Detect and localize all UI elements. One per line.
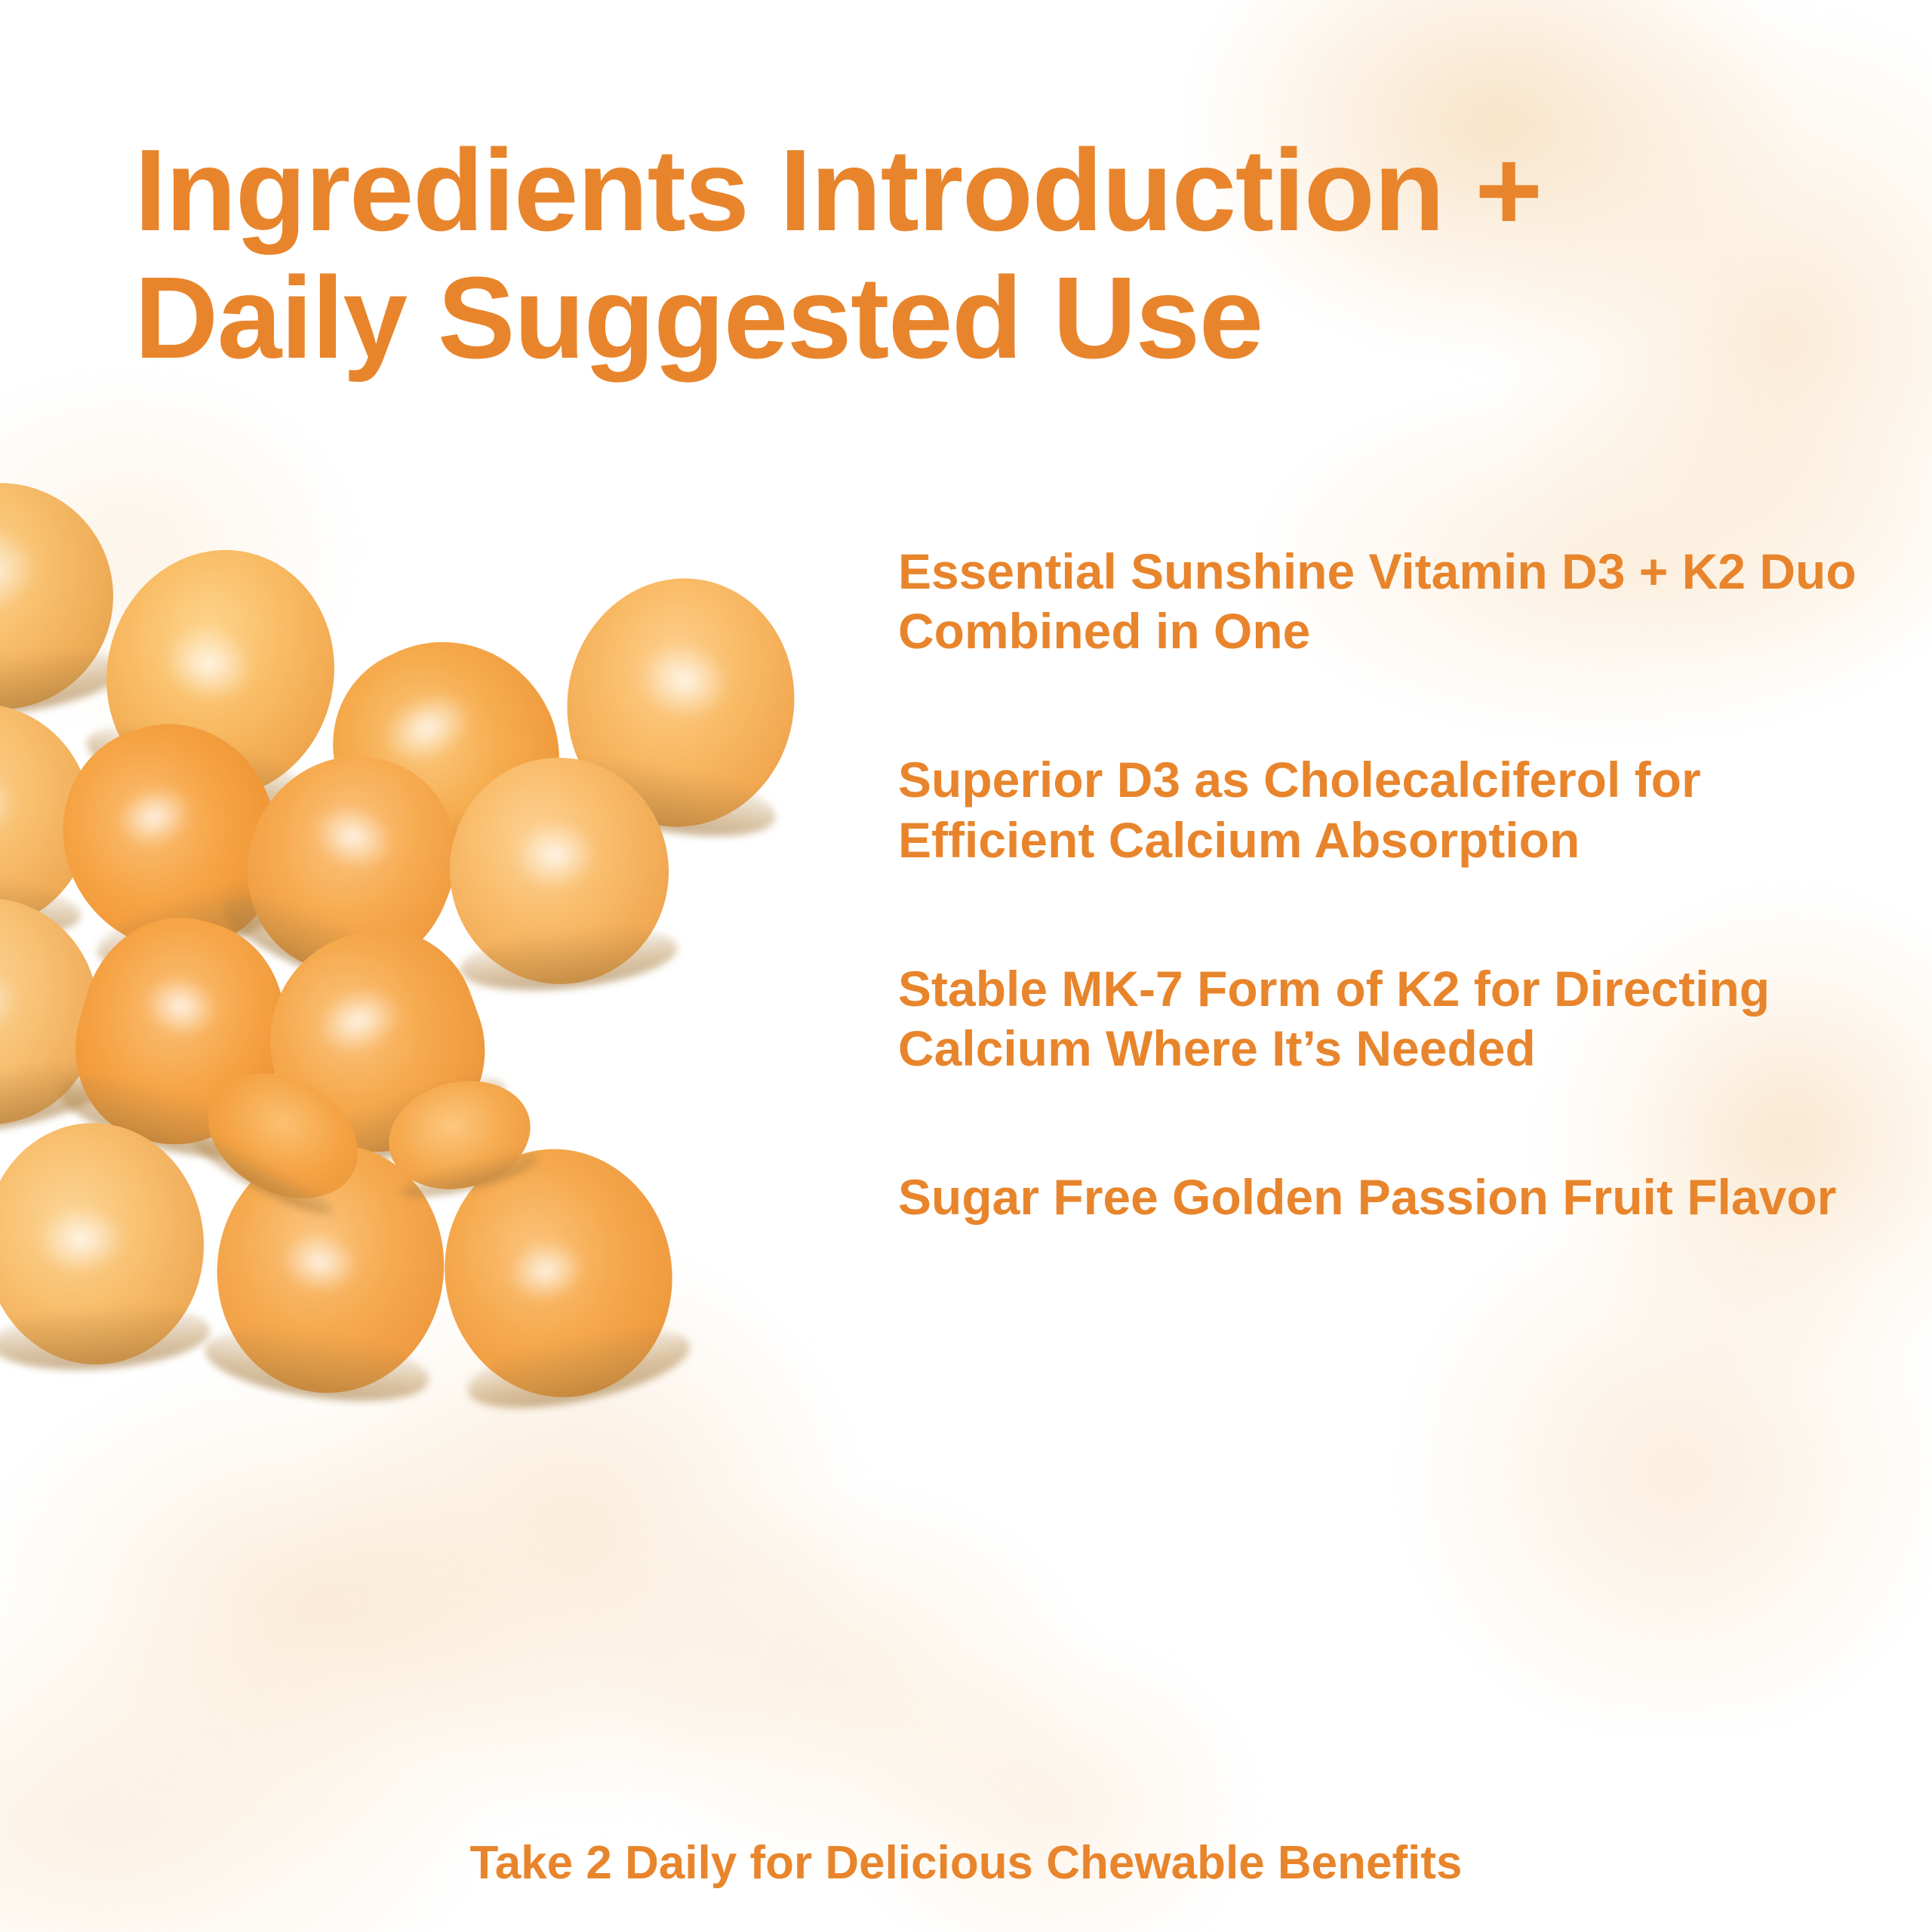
gummy-candy (0, 1115, 212, 1371)
product-infographic: Ingredients Introduction + Daily Suggest… (0, 0, 1932, 1932)
footer: Take 2 Daily for Delicious Chewable Bene… (0, 1835, 1932, 1891)
benefits-list: Essential Sunshine Vitamin D3 + K2 Duo C… (898, 542, 1872, 1227)
benefit-item: Superior D3 as Cholecalciferol for Effic… (898, 750, 1872, 869)
daily-use-statement: Take 2 Daily for Delicious Chewable Bene… (469, 1835, 1462, 1891)
benefit-item: Sugar Free Golden Passion Fruit Flavor (898, 1168, 1872, 1227)
gummies-product-photo (0, 506, 785, 1547)
page-title-line-1: Ingredients Introduction + (134, 127, 1644, 254)
page-title: Ingredients Introduction + Daily Suggest… (134, 127, 1644, 383)
page-title-line-2: Daily Suggested Use (134, 254, 1644, 382)
benefit-item: Essential Sunshine Vitamin D3 + K2 Duo C… (898, 542, 1872, 661)
benefit-item: Stable MK-7 Form of K2 for Directing Cal… (898, 959, 1872, 1078)
